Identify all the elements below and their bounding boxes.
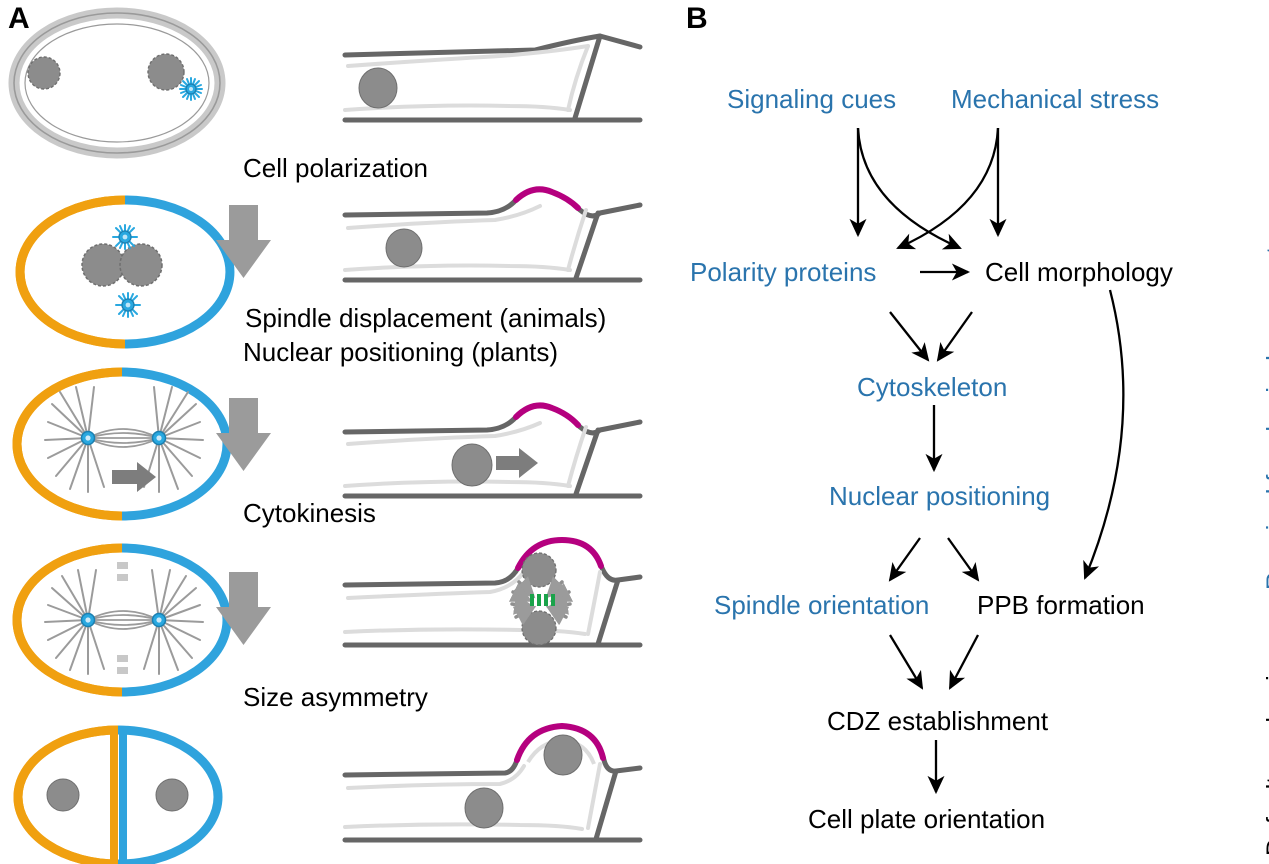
cell-unpolarized xyxy=(14,13,220,153)
node-cytoskeleton: Cytoskeleton xyxy=(857,374,1007,400)
plant-cell-cytokinesis xyxy=(345,540,640,645)
panel-letter-a: A xyxy=(8,4,30,34)
node-mechanical-stress: Mechanical stress xyxy=(951,86,1159,112)
node-nuclear-positioning: Nuclear positioning xyxy=(829,483,1050,509)
cell-spindle-displacement xyxy=(17,372,227,516)
plant-cell-polarized xyxy=(345,189,640,280)
stage-label-nuclear-positioning: Nuclear positioning (plants) xyxy=(243,337,558,368)
arrow-polarity-to-cytoskeleton xyxy=(890,312,928,360)
cell-size-asymmetry xyxy=(18,730,218,864)
arrow-morphology-to-ppb xyxy=(1085,290,1123,578)
node-polarity-proteins: Polarity proteins xyxy=(690,259,876,285)
plant-cell-unpolarized xyxy=(345,36,640,120)
cell-cytokinesis xyxy=(17,548,227,692)
arrow-nuclear-to-spindle xyxy=(890,538,920,580)
node-spindle-orientation: Spindle orientation xyxy=(714,592,929,618)
stage-label-cell-polarization: Cell polarization xyxy=(243,153,428,184)
node-ppb-formation: PPB formation xyxy=(977,592,1145,618)
arrow-morphology-to-cytoskeleton xyxy=(938,312,972,360)
arrow-mechanical-to-polarity xyxy=(898,128,998,248)
stage-label-size-asymmetry: Size asymmetry xyxy=(243,682,428,713)
node-cell-morphology: Cell morphology xyxy=(985,259,1173,285)
node-signaling-cues: Signaling cues xyxy=(727,86,896,112)
arrow-signaling-to-morphology xyxy=(858,128,960,248)
side-label-required-for-physical-asymmetry: Required for physical asymmetry xyxy=(1262,226,1269,590)
node-cell-plate-orientation: Cell plate orientation xyxy=(808,806,1045,832)
panel-letter-b: B xyxy=(686,4,708,34)
transition-arrow-2 xyxy=(216,398,271,471)
cell-polarized xyxy=(20,200,230,344)
plant-cell-nuclear-positioning xyxy=(345,405,640,496)
panel-a-artwork xyxy=(0,0,680,864)
stage-label-spindle-displacement: Spindle displacement (animals) xyxy=(245,303,606,334)
side-label-default-mechanism: Default mechanism xyxy=(1262,642,1269,856)
plant-cell-size-asymmetry xyxy=(345,726,640,840)
transition-arrow-1 xyxy=(216,205,271,278)
panel-b-arrows xyxy=(0,0,1269,864)
transition-arrow-3 xyxy=(216,572,271,645)
stage-label-cytokinesis: Cytokinesis xyxy=(243,498,376,529)
arrow-ppb-to-cdz xyxy=(950,635,978,688)
arrow-nuclear-to-ppb xyxy=(948,538,978,580)
node-cdz-establishment: CDZ establishment xyxy=(827,708,1048,734)
arrow-spindle-to-cdz xyxy=(890,635,922,688)
figure-root: A xyxy=(0,0,1269,864)
